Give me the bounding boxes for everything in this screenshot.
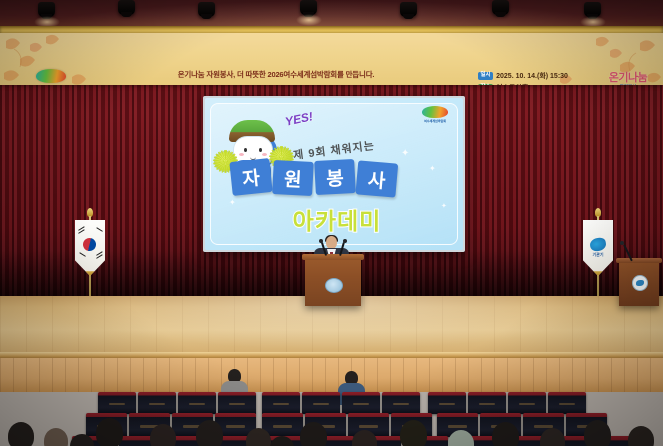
info-value-date: 2025. 10. 14.(화) 15:30 — [496, 71, 568, 81]
spotlight-icon — [198, 2, 215, 17]
podium-emblem-icon — [325, 278, 343, 293]
stage-apron-panel — [0, 358, 663, 392]
audience-seat — [382, 392, 420, 414]
flag-organization: 기관기 — [582, 208, 616, 308]
auditorium-event-photo: 온기나눔 자원봉사, 더 따뜻한 2026여수세계섬박람회를 만듭니다. 제9회… — [0, 0, 663, 446]
spotlight-icon — [584, 2, 601, 17]
event-banner: 온기나눔 자원봉사, 더 따뜻한 2026여수세계섬박람회를 만듭니다. 제9회… — [0, 33, 663, 85]
audience-head — [150, 424, 176, 446]
ongi-logo-main: 온기나눔 — [600, 69, 656, 85]
banner-tagline: 온기나눔 자원봉사, 더 따뜻한 2026여수세계섬박람회를 만듭니다. — [96, 69, 456, 80]
info-tag-date: 일시 — [478, 72, 493, 80]
microphone-head-icon — [319, 239, 323, 243]
sparkle-icon: ✦ — [401, 148, 409, 159]
flag-korea — [74, 208, 108, 308]
audience-seat — [548, 392, 586, 414]
spotlight-icon — [118, 0, 135, 15]
audience-seat — [342, 392, 380, 414]
city-flag-label: 기관기 — [587, 252, 609, 258]
slide-expo-island-icon — [422, 106, 448, 118]
slide-expo-logo-text: 여수세계섬박람회 — [415, 119, 455, 123]
banner-title-green: 자원봉사 아카데미 — [197, 82, 322, 86]
spotlight-icon — [492, 0, 509, 15]
audience-seat — [468, 392, 506, 414]
audience-head — [352, 430, 377, 446]
audience-seat — [178, 392, 216, 414]
spotlight-icon — [400, 2, 417, 17]
banner-title-row: 제9회 채워지는 자원봉사 아카데미 — [96, 81, 456, 85]
projection-screen: YES! 제 9회 채워지는 자 원 봉 사 아카데미 여수세계섬박람회 ✦ ✦… — [203, 96, 465, 252]
microphone-head-icon — [343, 239, 347, 243]
audience-seat — [302, 392, 340, 414]
audience-head — [70, 434, 94, 446]
audience-head — [96, 418, 123, 446]
foreground-audience — [0, 412, 663, 446]
slide-tile-row: 자 원 봉 사 — [231, 160, 441, 196]
sparkle-icon: ✦ — [441, 202, 447, 210]
taeguk-circle-icon — [81, 236, 99, 254]
podium-secondary-top — [616, 258, 662, 263]
audience-head — [196, 420, 223, 446]
spotlight-icon — [38, 2, 55, 17]
banner-title-red: 채워지는 — [132, 82, 193, 86]
audience-head — [400, 420, 427, 446]
spotlight-icon — [300, 0, 317, 15]
audience-head — [448, 430, 474, 446]
slide-tile: 자 — [229, 158, 272, 196]
audience-seat — [508, 392, 546, 414]
info-row-date: 일시 2025. 10. 14.(화) 15:30 — [478, 71, 598, 81]
audience-seat — [98, 392, 136, 414]
audience-seat — [138, 392, 176, 414]
presentation-slide: YES! 제 9회 채워지는 자 원 봉 사 아카데미 여수세계섬박람회 ✦ ✦… — [205, 98, 463, 250]
audience-head — [540, 428, 565, 446]
podium-secondary-emblem-icon — [632, 275, 648, 291]
city-emblem-icon — [589, 237, 607, 253]
slide-academy-text: 아카데미 — [257, 202, 417, 236]
audience-head — [584, 420, 611, 446]
expo-logo: 2026 여수세계섬박람회 2026. 5. 5 ~ 11. 4 — [18, 69, 84, 85]
sparkle-icon: ✦ — [429, 164, 436, 173]
event-info-block: 일시 2025. 10. 14.(화) 15:30 장소 여수문화홀 강사 이 … — [478, 71, 598, 85]
audience-seat — [262, 392, 300, 414]
audience-head — [44, 428, 68, 446]
info-row-venue: 장소 여수문화홀 — [478, 83, 598, 86]
info-tag-venue: 장소 — [478, 84, 493, 85]
audience-head — [300, 422, 327, 446]
ongi-nanum-logo: 온기나눔 자원봉사 대한민국 — [600, 69, 656, 85]
audience-seat — [428, 392, 466, 414]
podium-top-surface — [302, 254, 364, 260]
slide-expo-logo: 여수세계섬박람회 — [415, 106, 455, 123]
audience-head — [8, 422, 34, 446]
audience-seat — [218, 392, 256, 414]
audience-head — [270, 436, 294, 446]
sparkle-icon: ✦ — [229, 198, 236, 207]
podium-secondary — [619, 262, 659, 306]
slide-tile: 사 — [355, 160, 398, 197]
expo-logo-year: 2026 — [18, 84, 84, 85]
microphone-head-icon — [620, 241, 624, 245]
flag-cloth-korea — [75, 220, 105, 276]
audience-head — [628, 426, 654, 446]
expo-island-icon — [36, 69, 66, 83]
audience-head — [492, 422, 519, 446]
audience-head — [246, 428, 271, 446]
slide-tile: 봉 — [314, 159, 356, 195]
podium-main — [305, 258, 361, 306]
info-value-venue: 여수문화홀 — [496, 83, 528, 86]
slide-tile: 원 — [272, 160, 314, 196]
spotlight-glow — [296, 14, 322, 26]
flag-cloth-organization: 기관기 — [583, 220, 613, 276]
